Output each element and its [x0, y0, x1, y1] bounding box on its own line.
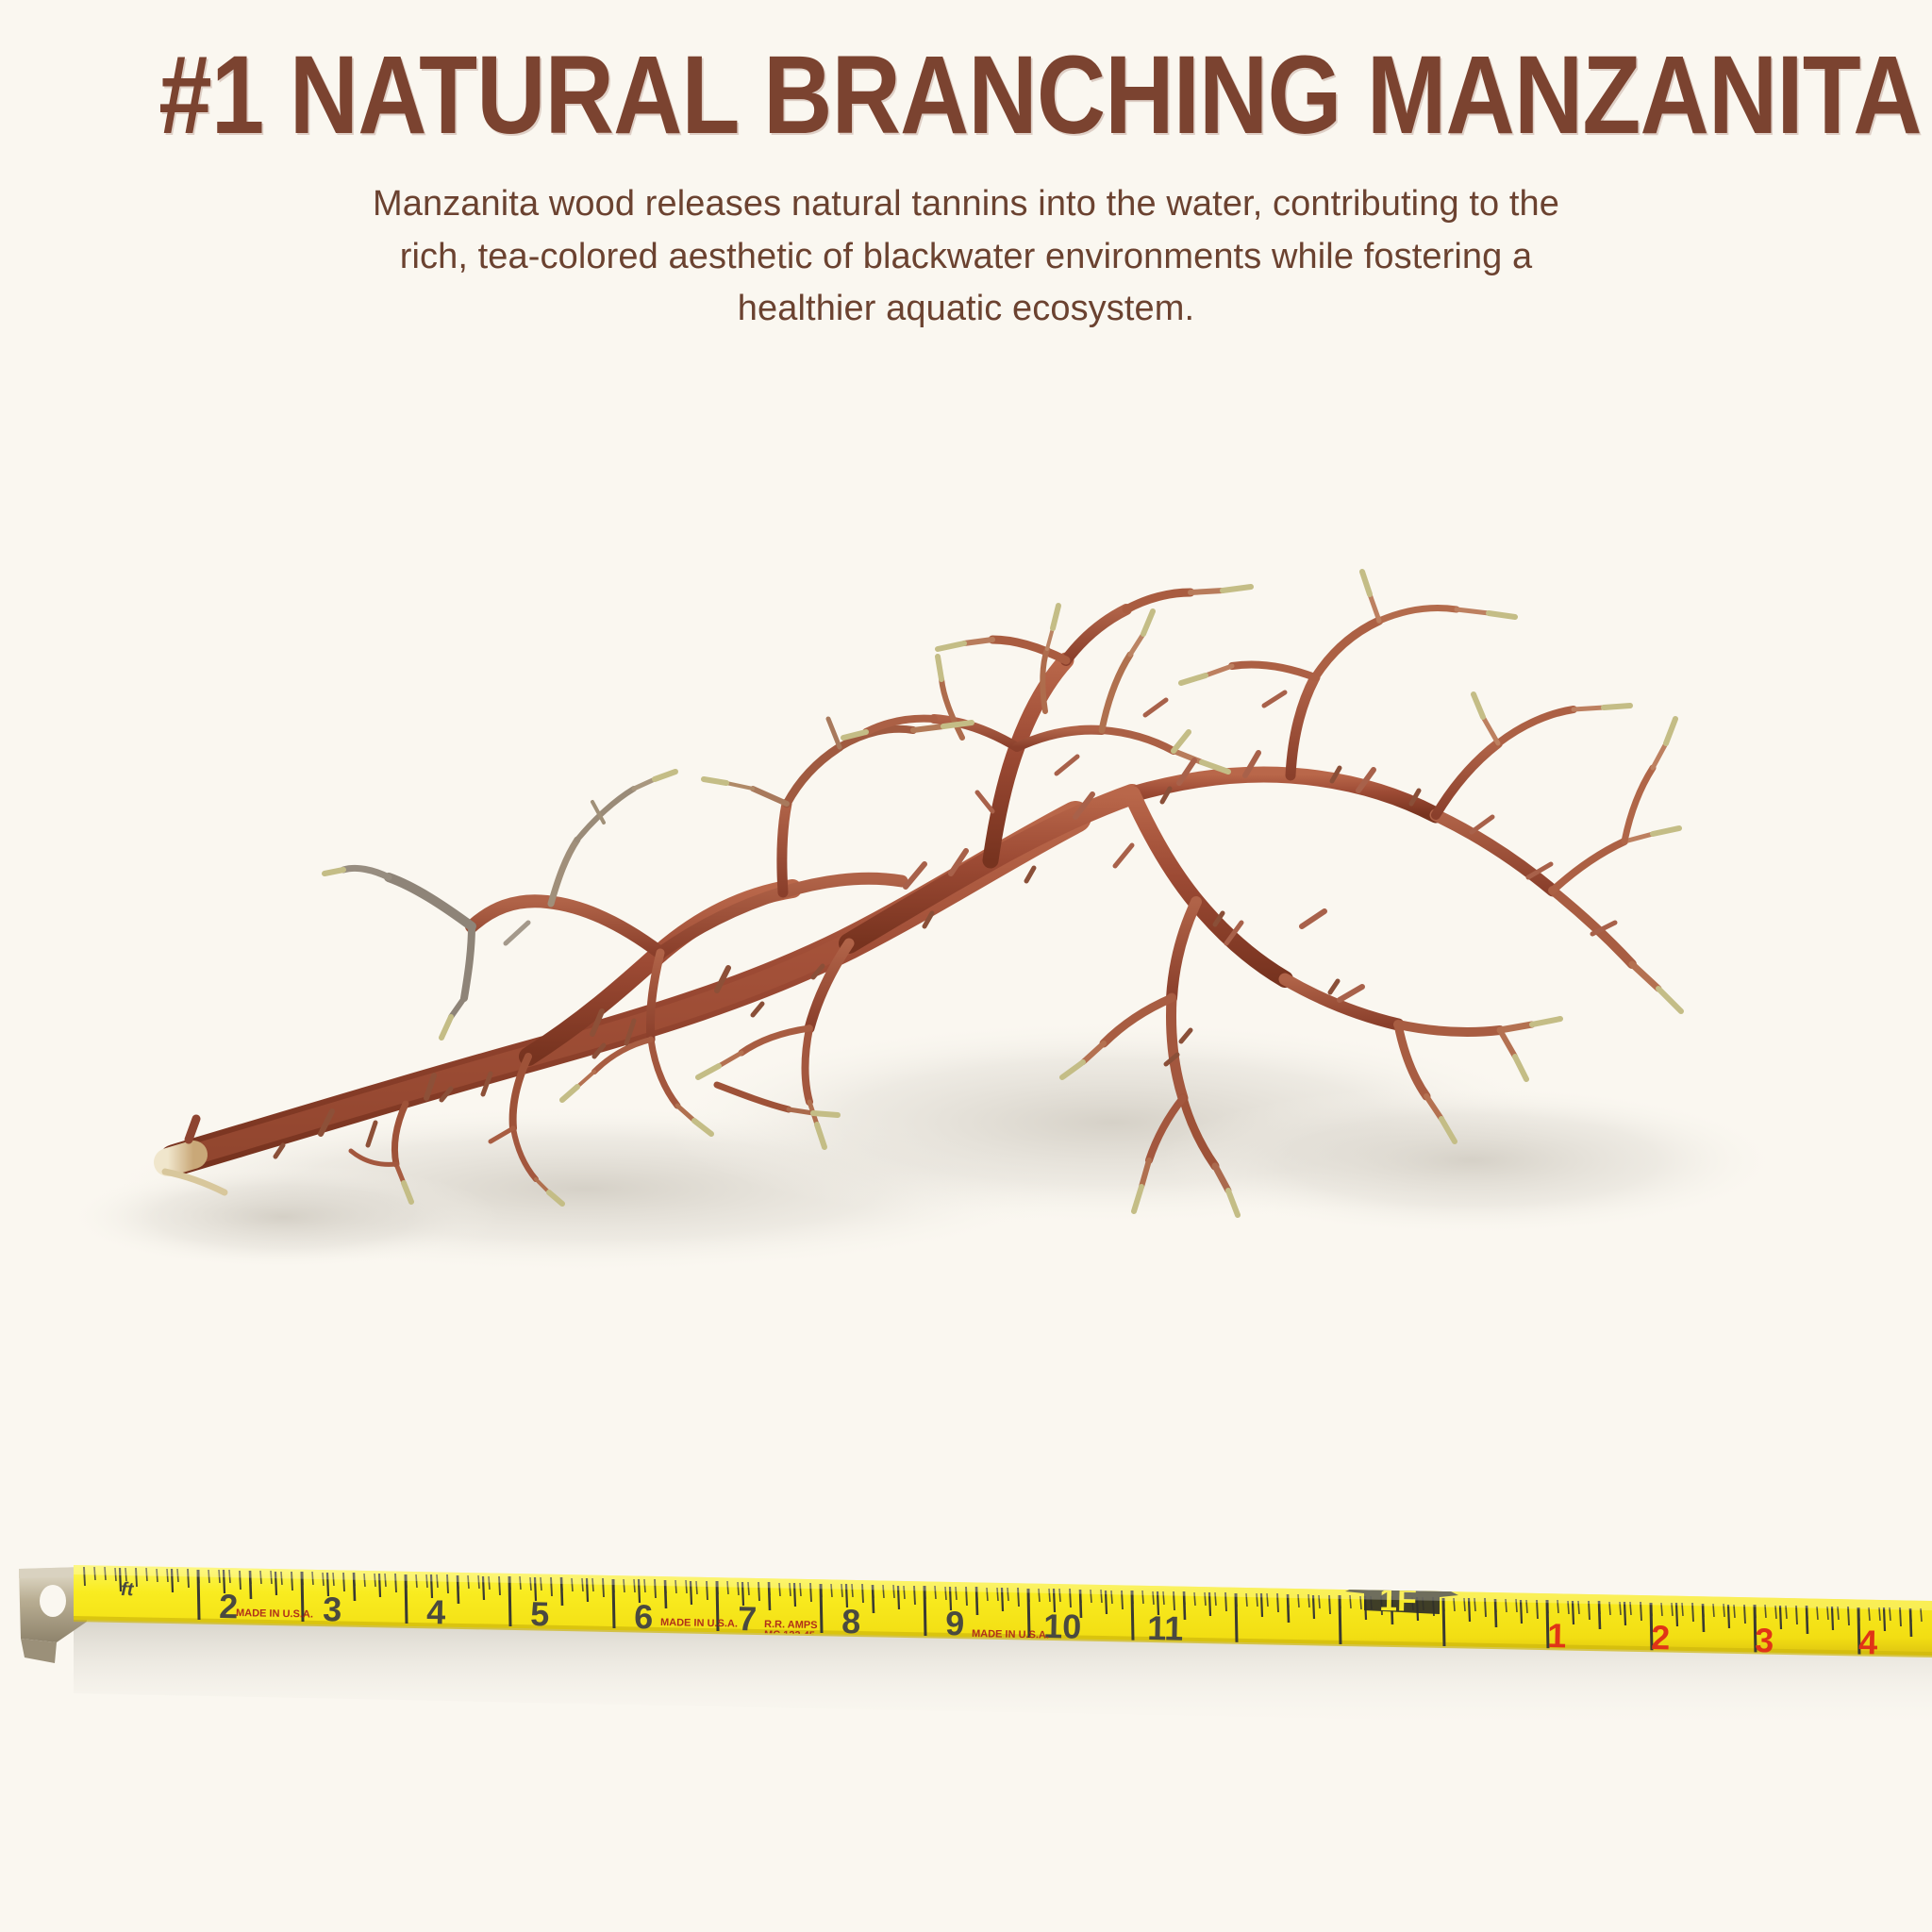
- svg-text:7: 7: [738, 1599, 758, 1638]
- subtitle-line-2: rich, tea-colored aesthetic of blackwate…: [221, 231, 1711, 283]
- subtitle-line-3: healthier aquatic ecosystem.: [221, 283, 1711, 335]
- page-title: #1 NATURAL BRANCHING MANZANITA: [158, 36, 1773, 156]
- svg-text:4: 4: [426, 1592, 446, 1631]
- svg-text:6: 6: [634, 1597, 654, 1636]
- page-subtitle: Manzanita wood releases natural tannins …: [221, 178, 1711, 335]
- branch-shadow: [66, 1019, 1783, 1274]
- product-infographic-page: #1 NATURAL BRANCHING MANZANITA Manzanita…: [0, 0, 1932, 1932]
- manzanita-branch-image: [0, 500, 1932, 1632]
- svg-text:3: 3: [323, 1590, 342, 1628]
- product-photo-stage: 2 3 4 5 6 7 8 9 10 11 1F: [0, 443, 1932, 1932]
- tape-measure-image: 2 3 4 5 6 7 8 9 10 11 1F: [0, 1552, 1932, 1797]
- subtitle-line-1: Manzanita wood releases natural tannins …: [221, 178, 1711, 230]
- header-block: #1 NATURAL BRANCHING MANZANITA Manzanita…: [0, 0, 1932, 336]
- svg-text:MADE IN U.S.A.: MADE IN U.S.A.: [660, 1617, 738, 1630]
- svg-text:MADE IN U.S.A.: MADE IN U.S.A.: [236, 1607, 313, 1621]
- svg-text:2: 2: [219, 1587, 239, 1625]
- svg-text:1F: 1F: [1379, 1582, 1417, 1619]
- svg-text:5: 5: [530, 1594, 550, 1633]
- tape-unit-label: ft: [121, 1579, 135, 1600]
